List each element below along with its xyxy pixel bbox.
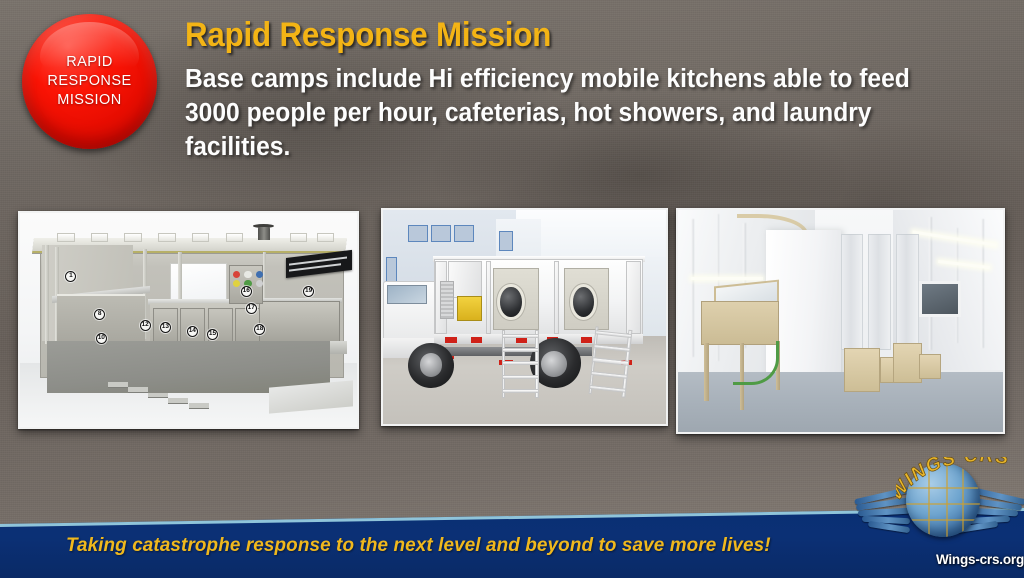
slide-title: Rapid Response Mission	[185, 16, 551, 55]
badge-line-2: RESPONSE	[47, 72, 131, 91]
callout-marker: 12	[140, 320, 151, 331]
hygiene-tent-interior-image	[678, 210, 1003, 432]
photo-hygiene-shower-tent	[676, 208, 1005, 434]
mobile-laundry-truck-image	[383, 210, 666, 424]
slide-canvas: RAPID RESPONSE MISSION Rapid Response Mi…	[0, 0, 1024, 578]
mobile-kitchen-render: 1 8 10 12 13 14 15 16 17 18 19	[20, 213, 357, 427]
callout-marker: 16	[241, 286, 252, 297]
badge-line-3: MISSION	[47, 91, 131, 110]
callout-marker: 13	[160, 322, 171, 333]
badge-label: RAPID RESPONSE MISSION	[47, 53, 131, 110]
callout-marker: 19	[303, 286, 314, 297]
photo-mobile-laundry-truck	[381, 208, 668, 426]
logo-url-text: Wings-crs.org	[936, 552, 1024, 567]
wash-basin-unit	[701, 301, 779, 345]
wings-crs-logo[interactable]: WINGS CRS Wings-crs.org	[862, 455, 1024, 573]
photo-mobile-kitchen-container: 1 8 10 12 13 14 15 16 17 18 19	[18, 211, 359, 429]
wings-crs-wordmark: WINGS CRS	[896, 457, 1020, 509]
slide-body-text: Base camps include Hi efficiency mobile …	[185, 62, 962, 164]
banner-tagline: Taking catastrophe response to the next …	[66, 534, 771, 557]
rapid-response-mission-badge: RAPID RESPONSE MISSION	[22, 14, 157, 149]
badge-line-1: RAPID	[47, 53, 131, 72]
callout-marker: 10	[96, 333, 107, 344]
callout-marker: 15	[207, 329, 218, 340]
svg-text:WINGS CRS: WINGS CRS	[896, 457, 1012, 504]
callout-marker: 17	[246, 303, 257, 314]
